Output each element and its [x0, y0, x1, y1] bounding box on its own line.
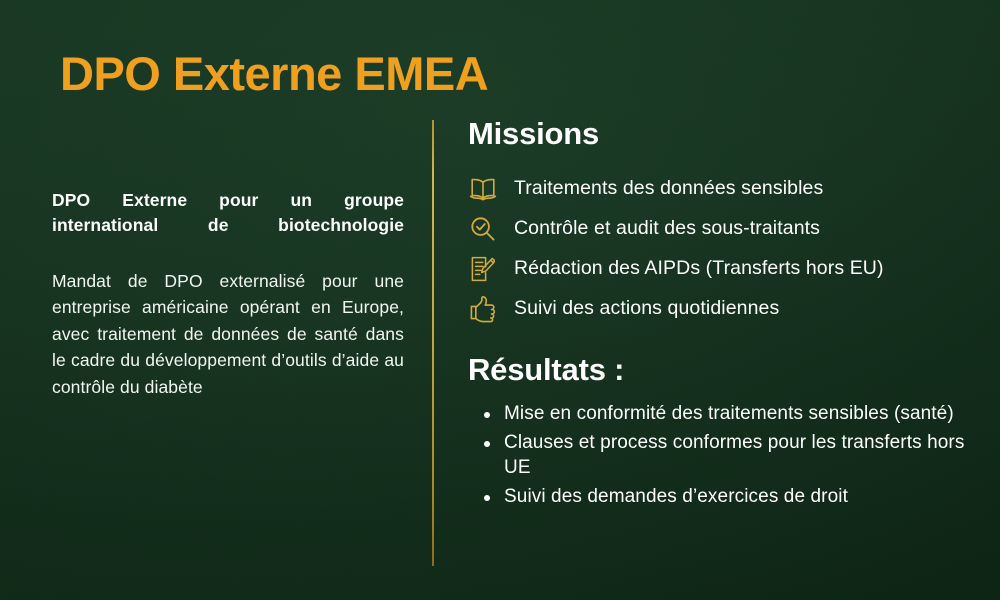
open-book-icon — [468, 174, 498, 204]
thumbs-up-icon — [468, 294, 498, 324]
mission-item: Rédaction des AIPDs (Transferts hors EU) — [468, 253, 968, 285]
slide-root: DPO Externe EMEA DPO Externe pour un gro… — [0, 0, 1000, 600]
mission-label: Suivi des actions quotidiennes — [514, 297, 779, 320]
results-list: Mise en conformité des traitements sensi… — [468, 401, 968, 509]
left-heading: DPO Externe pour un groupe international… — [52, 188, 404, 238]
left-column: DPO Externe pour un groupe international… — [52, 188, 404, 401]
missions-list: Traitements des données sensibles Contrô… — [468, 173, 968, 325]
mission-item: Traitements des données sensibles — [468, 173, 968, 205]
mission-label: Traitements des données sensibles — [514, 177, 823, 200]
left-paragraph: Mandat de DPO externalisé pour une entre… — [52, 268, 404, 401]
right-column: Missions Traitements des données sensibl… — [468, 117, 968, 512]
mission-label: Rédaction des AIPDs (Transferts hors EU) — [514, 257, 884, 280]
missions-heading: Missions — [468, 117, 968, 151]
mission-item: Suivi des actions quotidiennes — [468, 293, 968, 325]
vertical-divider — [432, 120, 434, 566]
result-item: Suivi des demandes d’exercices de droit — [468, 484, 968, 509]
result-item: Mise en conformité des traitements sensi… — [468, 401, 968, 426]
document-pen-icon — [468, 254, 498, 284]
magnifier-check-icon — [468, 214, 498, 244]
page-title: DPO Externe EMEA — [60, 46, 488, 101]
results-heading: Résultats : — [468, 353, 968, 387]
mission-label: Contrôle et audit des sous-traitants — [514, 217, 820, 240]
mission-item: Contrôle et audit des sous-traitants — [468, 213, 968, 245]
result-item: Clauses et process conformes pour les tr… — [468, 430, 968, 481]
